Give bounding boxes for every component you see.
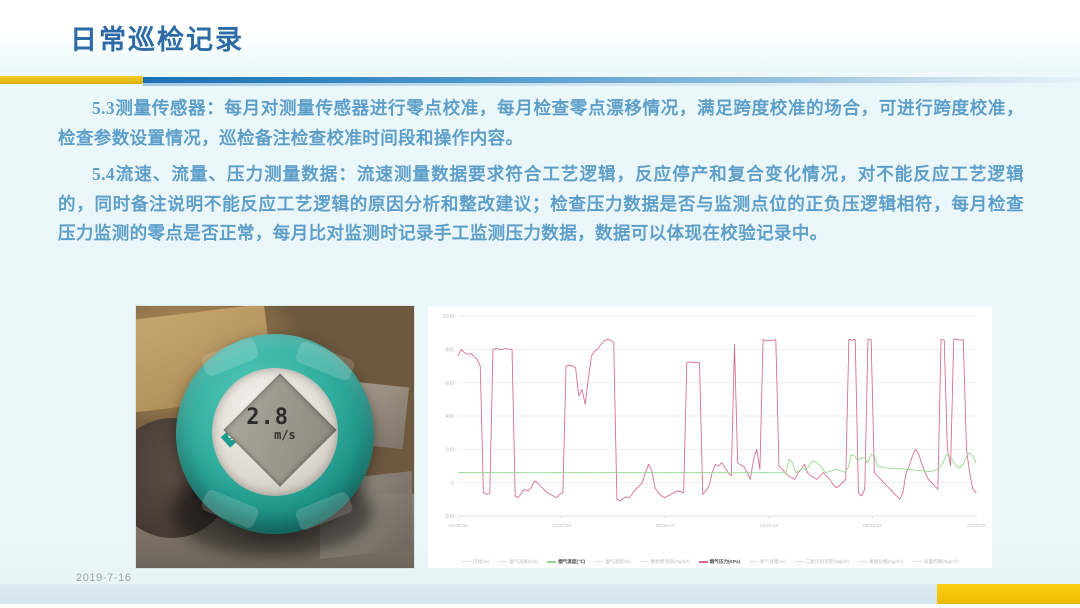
device-lcd-screen: 2.8 m/s bbox=[223, 373, 336, 486]
lcd-unit: m/s bbox=[253, 428, 317, 442]
legend-item[interactable]: 烟气压力(KPa) bbox=[699, 558, 740, 565]
svg-text:200: 200 bbox=[445, 448, 454, 454]
legend-swatch-icon bbox=[913, 561, 922, 563]
page-title: 日常巡检记录 bbox=[70, 18, 244, 57]
paragraph-5-3: 5.3测量传感器：每月对测量传感器进行零点校准，每月检查零点漂移情况，满足跨度校… bbox=[58, 94, 1024, 153]
slide-date: 2019-7-16 bbox=[76, 572, 132, 584]
svg-text:09:24:31: 09:24:31 bbox=[863, 523, 882, 529]
header-rule-shadow bbox=[143, 83, 1080, 86]
legend-label: 颗粒物浓度(mg/m³) bbox=[651, 558, 690, 565]
legend-item[interactable]: 烟气湿度(%) bbox=[594, 558, 631, 565]
legend-swatch-icon bbox=[699, 561, 708, 563]
svg-text:05:59:40: 05:59:40 bbox=[656, 523, 675, 529]
legend-item[interactable]: 烟气温度(℃) bbox=[547, 558, 585, 565]
legend-label: 烟气湿度(%) bbox=[605, 558, 631, 565]
legend-swatch-icon bbox=[795, 561, 804, 563]
svg-text:23:00:52: 23:00:52 bbox=[967, 523, 986, 529]
legend-item[interactable]: 口径(%) bbox=[462, 558, 489, 565]
chart-legend: 口径(%)烟气流速(m/s)烟气温度(℃)烟气湿度(%)颗粒物浓度(mg/m³)… bbox=[428, 558, 992, 565]
legend-item[interactable]: 颗粒物浓度(mg/m³) bbox=[640, 558, 690, 565]
chart-plot-area: 10008006004002000-20000:08:0613:37:2905:… bbox=[428, 306, 992, 546]
lcd-value: 2.8 bbox=[234, 405, 302, 430]
footer-bar bbox=[0, 584, 1080, 604]
legend-label: 烟气压力(KPa) bbox=[710, 558, 740, 565]
svg-text:00:08:06: 00:08:06 bbox=[449, 523, 468, 529]
siemens-transmitter: SIEMENS 2.8 m/s bbox=[176, 334, 374, 534]
presentation-slide: 日常巡检记录 5.3测量传感器：每月对测量传感器进行零点校准，每月检查零点漂移情… bbox=[0, 0, 1080, 608]
legend-item[interactable]: 氧气含量(%) bbox=[749, 558, 786, 565]
legend-item[interactable]: 氮氧化物(mg/m³) bbox=[858, 558, 903, 565]
legend-swatch-icon bbox=[640, 561, 649, 563]
legend-item[interactable]: 二氧化硫浓度(mg/m³) bbox=[795, 558, 850, 565]
legend-item[interactable]: 流量折算(mg/m³) bbox=[913, 558, 958, 565]
svg-text:-200: -200 bbox=[444, 514, 454, 520]
slide-header: 日常巡检记录 bbox=[0, 0, 1080, 72]
legend-swatch-icon bbox=[462, 561, 471, 563]
svg-text:0: 0 bbox=[451, 481, 454, 487]
legend-swatch-icon bbox=[749, 561, 758, 563]
header-rule-yellow bbox=[0, 76, 143, 84]
svg-text:1000: 1000 bbox=[442, 314, 454, 320]
legend-item[interactable]: 烟气流速(m/s) bbox=[498, 558, 538, 565]
device-faceplate: SIEMENS 2.8 m/s bbox=[212, 368, 338, 496]
footer-edge bbox=[0, 604, 1080, 608]
legend-swatch-icon bbox=[547, 561, 556, 563]
legend-label: 烟气流速(m/s) bbox=[509, 558, 538, 565]
legend-swatch-icon bbox=[858, 561, 867, 563]
svg-text:13:37:29: 13:37:29 bbox=[552, 523, 571, 529]
sensor-photo: SIEMENS 2.8 m/s bbox=[136, 306, 414, 568]
legend-label: 氮氧化物(mg/m³) bbox=[869, 558, 903, 565]
body-content: 5.3测量传感器：每月对测量传感器进行零点校准，每月检查零点漂移情况，满足跨度校… bbox=[58, 94, 1024, 256]
svg-text:400: 400 bbox=[445, 414, 454, 420]
legend-label: 氧气含量(%) bbox=[760, 558, 786, 565]
legend-label: 烟气温度(℃) bbox=[558, 558, 585, 565]
footer-accent-yellow bbox=[937, 584, 1080, 604]
legend-label: 口径(%) bbox=[473, 558, 489, 565]
legend-label: 二氧化硫浓度(mg/m³) bbox=[806, 558, 850, 565]
svg-text:19:40:16: 19:40:16 bbox=[759, 523, 778, 529]
monitoring-chart: 10008006004002000-20000:08:0613:37:2905:… bbox=[428, 306, 992, 568]
svg-text:600: 600 bbox=[445, 381, 454, 387]
paragraph-5-4: 5.4流速、流量、压力测量数据：流速测量数据要求符合工艺逻辑，反应停产和复合变化… bbox=[58, 160, 1024, 249]
legend-swatch-icon bbox=[498, 561, 507, 563]
svg-text:800: 800 bbox=[445, 348, 454, 354]
legend-label: 流量折算(mg/m³) bbox=[924, 558, 958, 565]
legend-swatch-icon bbox=[594, 561, 603, 563]
